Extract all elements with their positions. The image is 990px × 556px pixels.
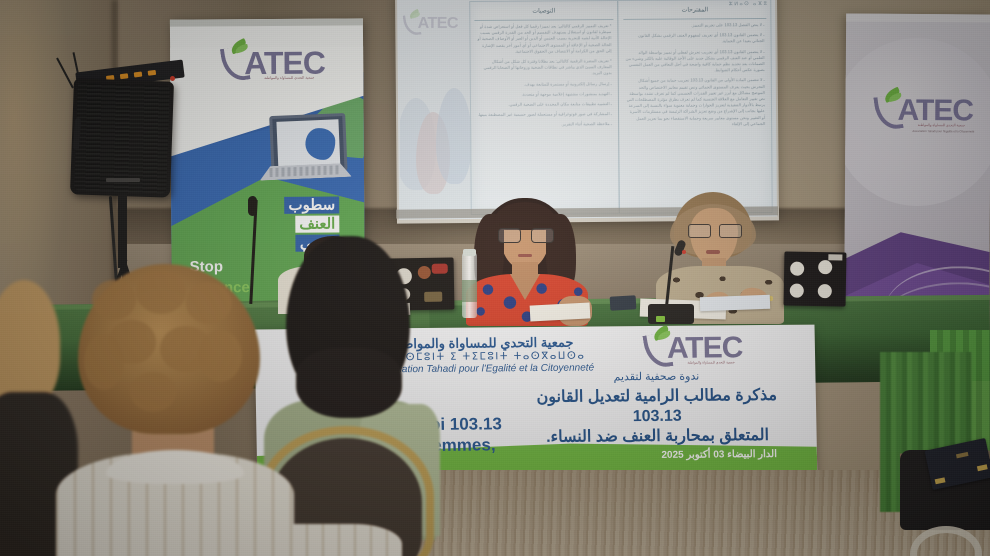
laptop-right	[784, 251, 847, 306]
receiver-led-3	[134, 72, 143, 78]
atec-logo-subtitle-fr: Association Tahadi pour l'Egalité et la …	[899, 130, 987, 134]
slide-silhouettes	[400, 70, 472, 210]
hair-curl-2	[136, 270, 186, 314]
brow-left	[499, 223, 517, 226]
bottle-label	[462, 280, 477, 302]
hair-curl	[92, 280, 136, 320]
pa-speaker	[72, 62, 178, 202]
slide-body-left: * تعريف التمييز الرقمي كالتالي: يعد تميي…	[474, 20, 614, 136]
bottle-cap	[463, 249, 476, 256]
eyeglasses-icon	[498, 228, 552, 241]
papers-left	[530, 302, 591, 321]
microphone-icon-2	[248, 196, 257, 216]
folder-emblem	[956, 452, 969, 458]
rollup-top-rail-right	[846, 13, 990, 22]
atec-logo-subtitle-banner: جمعية التحدي للمساواة والمواطنة	[669, 361, 753, 365]
laptop2-sticker-2	[818, 260, 832, 274]
atec-logo-subtitle: جمعية التحدي للمساواة والمواطنة	[246, 77, 332, 81]
laptop-illustration-display	[276, 119, 340, 167]
slide-header-right: المقترحات	[623, 3, 766, 20]
banner-subtitle-ar: ندوة صحفية لتقديم	[511, 369, 801, 386]
chair-right-with-folder	[900, 430, 990, 556]
device-on-table	[610, 295, 637, 310]
receiver-led-2	[120, 73, 129, 79]
slide-para: ـ إرسال رسائل إلكترونية أو مستمرة للمتاب…	[477, 81, 612, 88]
hair-curl-3	[186, 282, 232, 324]
banner-date-place: الدار البيضاء 03 أكتوبر 2025	[661, 449, 777, 461]
pa-speaker-grille	[74, 82, 170, 193]
hair-curl-8	[130, 372, 176, 412]
speaker2-mouth	[706, 250, 720, 254]
eyeglasses-icon-2	[688, 224, 740, 237]
atec-logo-subtitle-ar: جمعية التحدي للمساواة والمواطنة	[899, 124, 983, 128]
slide-para: ـ ملاحظة الصحية أثناء التقرير.	[477, 121, 612, 128]
hair-curl-7	[198, 330, 242, 382]
slide-para: ـ التهديد بمنشورات مشتبهة إعلامية موجهة …	[477, 91, 612, 98]
slide-header-left: التوصيات	[474, 4, 613, 21]
banner-arabic-headline: ندوة صحفية لتقديم مذكرة مطالب الرامية لت…	[511, 369, 802, 449]
banner-headline-line-2: المتعلق بمحاربة العنف ضد النساء.	[512, 426, 802, 449]
laptop2-sticker	[790, 262, 804, 276]
microphone-base	[648, 304, 694, 324]
speaker-mouth	[518, 254, 532, 257]
slogan-ar-2: العنف	[295, 215, 339, 232]
banner-headline-line-1: مذكرة مطالب الرامية لتعديل القانون 103.1…	[512, 386, 803, 429]
slide-atec-watermark: ATEC	[404, 4, 470, 64]
receiver-led-4	[148, 70, 157, 76]
curly-hair	[78, 264, 260, 434]
hair-curl-6	[84, 334, 124, 390]
attendee-curly-hair-white-shirt	[56, 264, 294, 556]
microphone-base-led	[656, 316, 665, 322]
laptop2-label	[828, 254, 842, 260]
hijab-drape	[296, 348, 402, 418]
slide-para: ـ المشاركة في صور فوتوغرافية أو مستعملة …	[477, 111, 612, 118]
lens-right	[531, 228, 554, 243]
microphone-led	[682, 250, 686, 254]
pa-speaker-brand	[106, 178, 140, 182]
rollup-top-rail	[170, 18, 363, 26]
brow-right	[533, 223, 551, 226]
laptop2-sticker-3	[790, 284, 804, 298]
lens-left	[498, 228, 521, 243]
lens-left-2	[688, 224, 711, 238]
lens-right-2	[719, 224, 742, 238]
folder-accent	[935, 477, 946, 484]
papers-right	[700, 295, 770, 311]
laptop-illustration-figure	[305, 127, 336, 160]
laptop2-sticker-4	[818, 284, 832, 298]
speaker-stand-pole	[118, 194, 127, 268]
slide-column-left: التوصيات * تعريف التمييز الرقمي كالتالي:…	[470, 1, 619, 214]
folder-accent-2	[977, 464, 988, 471]
slide-para: ـ التشبيه تطبيقات متابعة مكان المحددة عل…	[477, 101, 612, 108]
chair-ring-detail	[910, 526, 982, 556]
slide-para: * تعريف المضرة الرقمية كالتالي: يعد بطلا…	[477, 58, 612, 78]
slide-para: ـ لا تتضمن المادة الأولى من القانون 103.…	[626, 77, 765, 128]
slide-para: ـ لا يتضمن القانون 103.13 أي تجريب تحرش …	[626, 49, 765, 75]
slide-column-right: ⵣⵍⴰⵙ ⴰⴼⵓ المقترحات ـ لا ينص الفصل 103.13…	[619, 0, 771, 213]
slogan-ar-1: سطوب	[284, 197, 339, 214]
laptop-illustration	[255, 113, 350, 197]
attendee-left-hair	[0, 280, 60, 408]
receiver-power-led	[170, 76, 175, 81]
slide-table: ⵣⵍⴰⵙ ⴰⴼⵓ المقترحات ـ لا ينص الفصل 103.13…	[469, 0, 772, 215]
slide-para: ـ لا يتضمن القانون 103.13 أي تعريف لمفهو…	[625, 32, 764, 45]
slide-body-right: ـ لا ينص الفصل 103.13 على تجريم التمييز.…	[623, 19, 767, 135]
slide-para: * تعريف التمييز الرقمي كالتالي: يعد تميي…	[476, 23, 611, 55]
press-conference-photo: ATEC ⵣⵍⴰⵙ ⴰⴼⵓ المقترحات ـ لا ينص الفصل 1…	[0, 0, 990, 556]
slide-para: ـ لا ينص الفصل 103.13 على تجريم التمييز.	[625, 22, 764, 29]
